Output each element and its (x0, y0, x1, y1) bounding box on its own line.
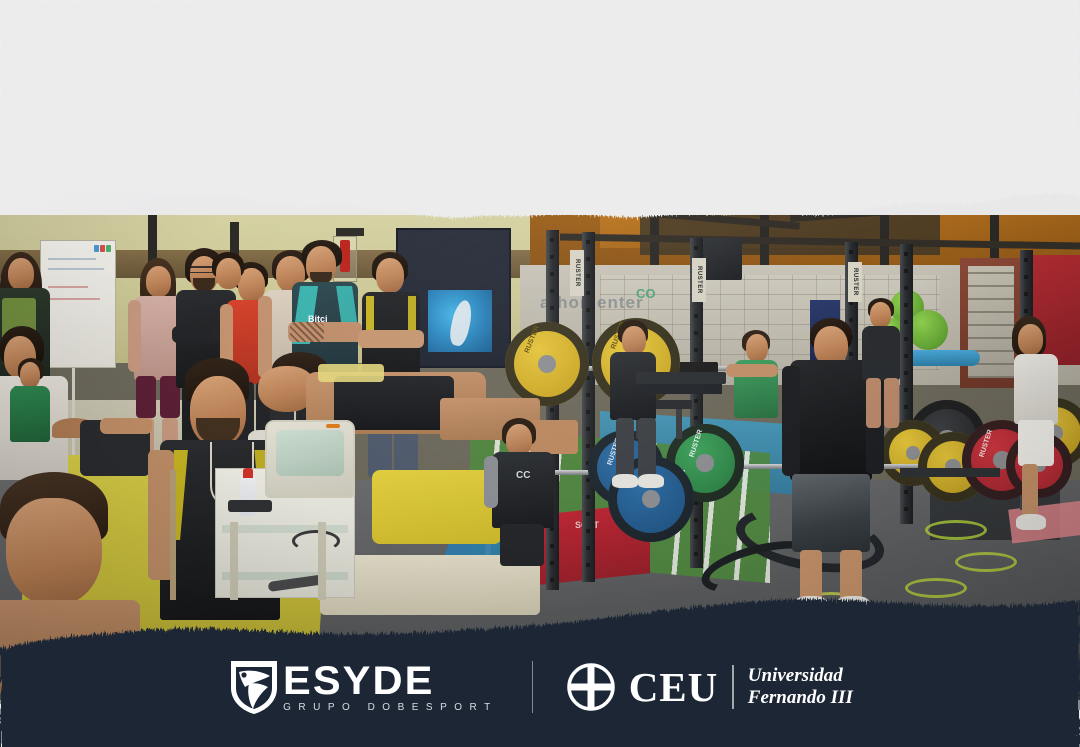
page-title: ¿MÁSTER EN READAPTACIÓN O ENTRENAMIENTO … (38, 33, 1042, 153)
logo-divider (532, 661, 533, 713)
headline-band: ¿MÁSTER EN READAPTACIÓN O ENTRENAMIENTO … (0, 0, 1080, 215)
headline-line-1: ¿MÁSTER EN READAPTACIÓN O (38, 33, 1042, 93)
ceu-logo[interactable]: CEU Universidad Fernando III (567, 663, 853, 711)
esyde-shield-icon (227, 658, 281, 716)
poster-canvas: athon enter CO SOFT (0, 0, 1080, 747)
esyde-logo[interactable]: ESYDE GRUPO DOBESPORT (227, 658, 498, 716)
ceu-separator (732, 665, 734, 709)
ceu-wordmark: CEU (629, 663, 719, 711)
ceu-subtitle-line-1: Universidad (748, 665, 853, 687)
ceu-cross-circle-icon (567, 663, 615, 711)
footer-logos: ESYDE GRUPO DOBESPORT CEU Universidad (0, 627, 1080, 747)
headline-line-2: ENTRENAMIENTO PARA LA SALUD? (38, 93, 1042, 153)
ceu-subtitle-line-2: Fernando III (748, 687, 853, 709)
esyde-wordmark: ESYDE (283, 661, 434, 701)
esyde-tagline: GRUPO DOBESPORT (283, 702, 498, 714)
